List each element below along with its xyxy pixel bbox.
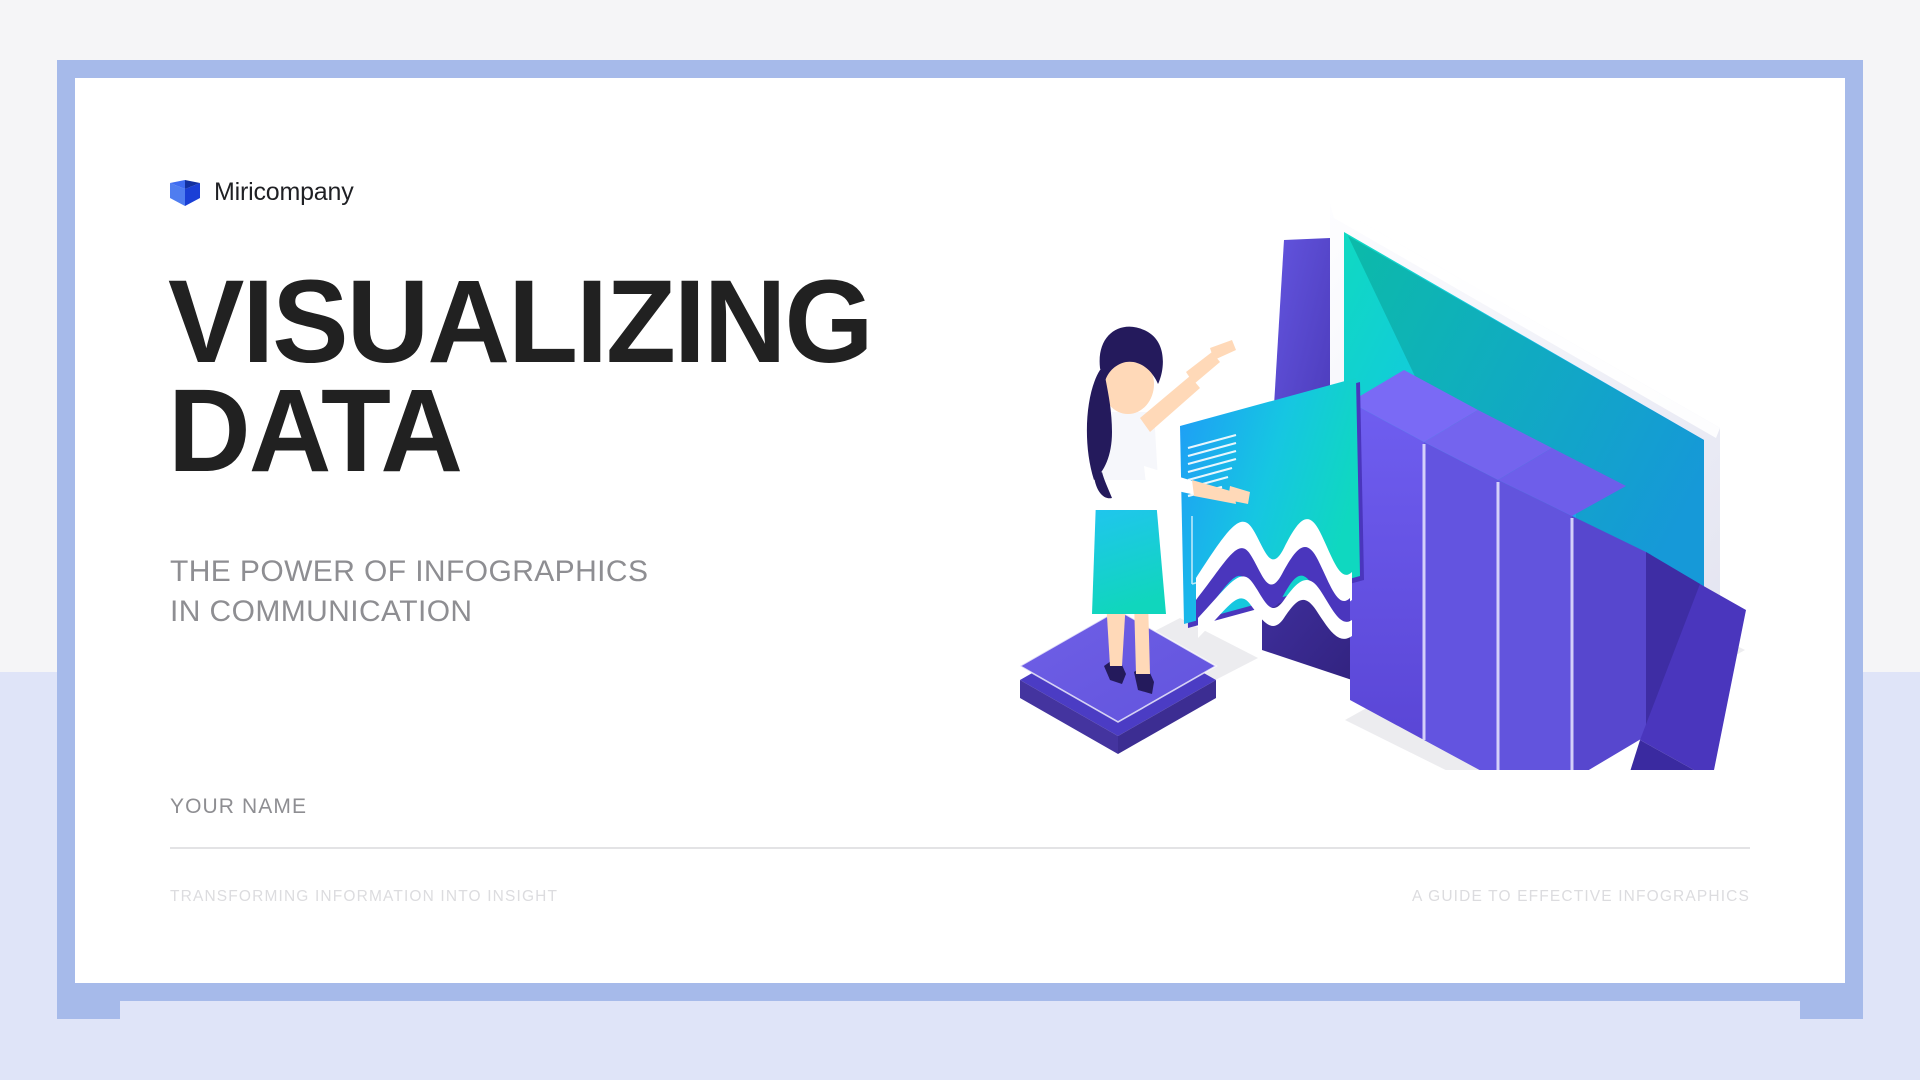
- brand-name: Miricompany: [214, 178, 354, 207]
- frame-foot-right: [1800, 1001, 1863, 1019]
- page-title-line-1: VISUALIZING: [168, 268, 963, 377]
- page-title-line-2: DATA: [168, 377, 963, 486]
- author-name-placeholder[interactable]: YOUR NAME: [170, 795, 307, 819]
- floating-chart-screen[interactable]: [1180, 378, 1364, 639]
- open-book-icon: [170, 180, 200, 206]
- isometric-data-visualization-illustration: [1000, 180, 1790, 770]
- tablet-bar-chart: [1344, 232, 1704, 770]
- skirt: [1092, 500, 1166, 614]
- slide-root: Miricompany VISUALIZING DATA THE POWER O…: [0, 0, 1920, 1080]
- page-subtitle-line-2: IN COMMUNICATION: [170, 592, 648, 632]
- footer-tagline-left: TRANSFORMING INFORMATION INTO INSIGHT: [170, 888, 558, 906]
- frame-foot-left: [57, 1001, 120, 1019]
- page-title: VISUALIZING DATA: [168, 268, 963, 485]
- hand-upper: [1210, 340, 1236, 360]
- page-subtitle: THE POWER OF INFOGRAPHICS IN COMMUNICATI…: [170, 552, 648, 632]
- author-name-rule: [170, 847, 1750, 849]
- footer-tagline-right: A GUIDE TO EFFECTIVE INFOGRAPHICS: [1412, 888, 1750, 906]
- brand-logo[interactable]: Miricompany: [170, 178, 354, 207]
- page-subtitle-line-1: THE POWER OF INFOGRAPHICS: [170, 552, 648, 592]
